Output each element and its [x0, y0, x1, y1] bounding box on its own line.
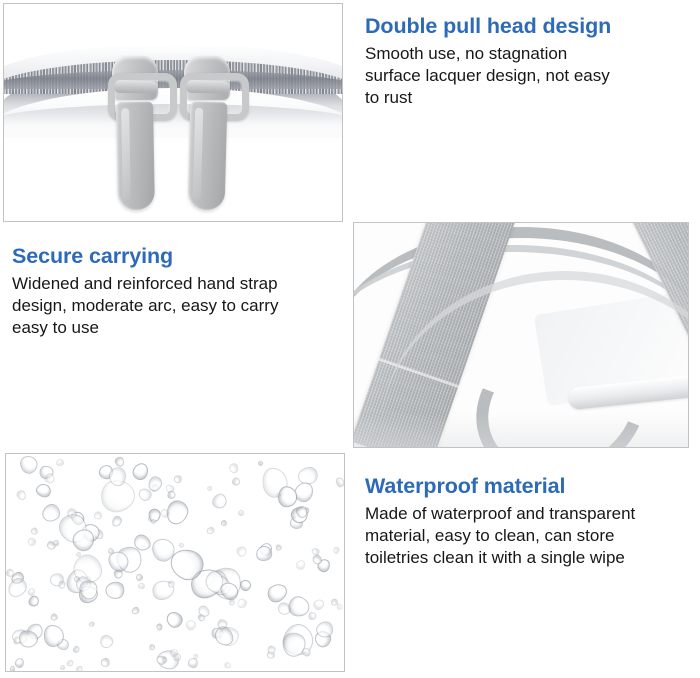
feature-title-secure-carrying: Secure carrying	[12, 244, 347, 268]
water-droplet	[224, 661, 232, 669]
water-droplet	[205, 526, 215, 535]
water-droplet	[88, 621, 95, 628]
water-droplet	[231, 476, 242, 487]
water-droplet	[30, 527, 39, 535]
zipper-pull-bar-left	[114, 81, 158, 93]
water-droplet	[275, 544, 282, 551]
water-droplet	[75, 664, 84, 672]
water-droplet	[26, 537, 37, 548]
water-droplet	[55, 458, 65, 467]
water-droplet	[236, 546, 248, 558]
water-droplet	[17, 453, 40, 477]
water-droplet	[209, 491, 229, 512]
water-droplet	[57, 580, 66, 589]
water-droplet	[163, 609, 184, 630]
water-droplet	[26, 594, 41, 609]
water-droplet	[237, 508, 245, 516]
zipper-pull-bar-right	[186, 81, 230, 93]
feature-text-waterproof-material: Waterproof material Made of waterproof a…	[365, 474, 697, 569]
zipper-pull-tab-right	[188, 102, 228, 211]
water-droplets-photo	[5, 453, 345, 672]
water-droplet	[294, 558, 307, 572]
water-droplet	[257, 459, 264, 466]
water-droplet	[332, 546, 340, 555]
water-droplet	[207, 486, 212, 491]
feature-body-secure-carrying: Widened and reinforced hand strap design…	[12, 273, 347, 339]
hand-strap-photo	[353, 222, 689, 448]
feature-body-waterproof-material: Made of waterproof and transparent mater…	[365, 503, 697, 569]
water-droplet	[220, 519, 228, 527]
water-droplet	[110, 514, 123, 528]
zipper-illustration	[4, 4, 342, 221]
feature-body-line: Widened and reinforced hand strap	[12, 273, 347, 295]
feature-title-waterproof-material: Waterproof material	[365, 474, 697, 498]
feature-body-double-pull-head: Smooth use, no stagnation surface lacque…	[365, 43, 695, 109]
water-droplet	[179, 543, 185, 549]
feature-body-line: material, easy to clean, can store	[365, 525, 697, 547]
feature-body-line: design, moderate arc, easy to carry	[12, 295, 347, 317]
water-droplet	[34, 482, 52, 499]
water-droplet	[99, 656, 111, 667]
water-droplet	[104, 580, 125, 600]
water-droplet	[156, 624, 163, 631]
water-droplet	[167, 490, 176, 499]
water-droplet	[13, 657, 24, 669]
feature-title-double-pull-head: Double pull head design	[365, 14, 695, 38]
water-droplet	[92, 510, 103, 521]
water-droplet	[134, 572, 144, 582]
water-droplet	[229, 600, 235, 606]
feature-body-line: Made of waterproof and transparent	[365, 503, 697, 525]
water-droplet	[312, 597, 326, 611]
strap-base-shadow	[354, 413, 688, 447]
water-droplet	[15, 489, 28, 502]
water-droplet	[130, 605, 140, 615]
zipper-pull-left	[104, 56, 168, 211]
water-droplet	[50, 613, 59, 622]
water-droplet	[235, 597, 248, 610]
feature-body-line: Smooth use, no stagnation	[365, 43, 695, 65]
water-droplet	[137, 583, 144, 589]
water-droplets-illustration	[6, 454, 344, 671]
feature-body-line: surface lacquer design, not easy	[365, 65, 695, 87]
water-droplet	[229, 463, 239, 474]
water-droplet	[65, 659, 74, 668]
water-droplet	[98, 633, 115, 650]
zipper-pull-right	[176, 56, 240, 211]
feature-text-secure-carrying: Secure carrying Widened and reinforced h…	[12, 244, 347, 339]
water-droplet	[265, 580, 291, 605]
feature-text-double-pull-head: Double pull head design Smooth use, no s…	[365, 14, 695, 109]
water-droplet	[184, 618, 198, 631]
water-droplet	[59, 664, 65, 670]
feature-body-line: to rust	[365, 87, 695, 109]
water-droplet	[307, 612, 316, 621]
water-droplet	[53, 539, 60, 546]
water-droplet	[173, 475, 182, 483]
hand-strap-illustration	[354, 223, 688, 447]
water-droplet	[148, 644, 155, 651]
water-droplet	[5, 575, 30, 601]
feature-body-line: easy to use	[12, 317, 347, 339]
water-droplet	[334, 476, 345, 488]
water-droplet	[130, 461, 150, 482]
water-droplet	[337, 604, 343, 610]
water-droplet	[72, 644, 81, 653]
zipper-pull-tab-left	[116, 102, 155, 211]
feature-body-line: toiletries clean it with a single wipe	[365, 547, 697, 569]
water-droplet	[10, 665, 16, 671]
zipper-double-pull-photo	[3, 3, 343, 222]
